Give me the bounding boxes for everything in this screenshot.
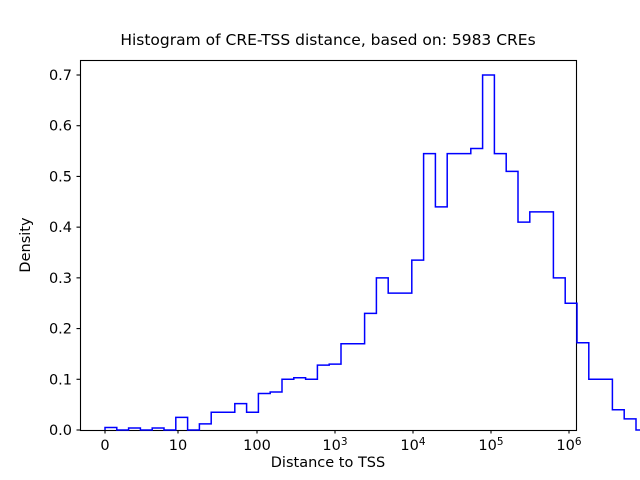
y-tick-label: 0.1 (49, 372, 72, 388)
y-tick-label: 0.6 (49, 119, 72, 135)
x-tick-label: 0 (100, 438, 109, 454)
x-tick-label: 103 (322, 436, 347, 454)
y-tick-label: 0.5 (49, 169, 72, 185)
x-tick-label: 100 (243, 438, 271, 454)
histogram-series (105, 75, 640, 430)
y-tick-label: 0.4 (49, 220, 72, 236)
x-tick-label: 105 (478, 436, 503, 454)
y-axis-label: Density (18, 217, 34, 273)
y-tick-label: 0.7 (49, 68, 72, 84)
y-tick-label: 0.3 (49, 271, 72, 287)
x-axis-label: Distance to TSS (271, 455, 385, 471)
x-tick-label: 106 (556, 436, 581, 454)
y-tick-label: 0.0 (49, 423, 72, 439)
x-tick-label: 104 (400, 436, 425, 454)
y-tick-label: 0.2 (49, 322, 72, 338)
histogram-step-line (105, 75, 640, 430)
x-tick-label: 10 (169, 438, 187, 454)
x-axis-ticks: 010100103104105106 (100, 430, 582, 454)
histogram-plot-canvas: Histogram of CRE-TSS distance, based on:… (0, 0, 640, 480)
histogram-figure: Histogram of CRE-TSS distance, based on:… (0, 0, 640, 480)
plot-frame (81, 61, 577, 431)
chart-title: Histogram of CRE-TSS distance, based on:… (120, 31, 535, 49)
y-axis-ticks: 0.00.10.20.30.40.50.60.7 (49, 68, 80, 439)
